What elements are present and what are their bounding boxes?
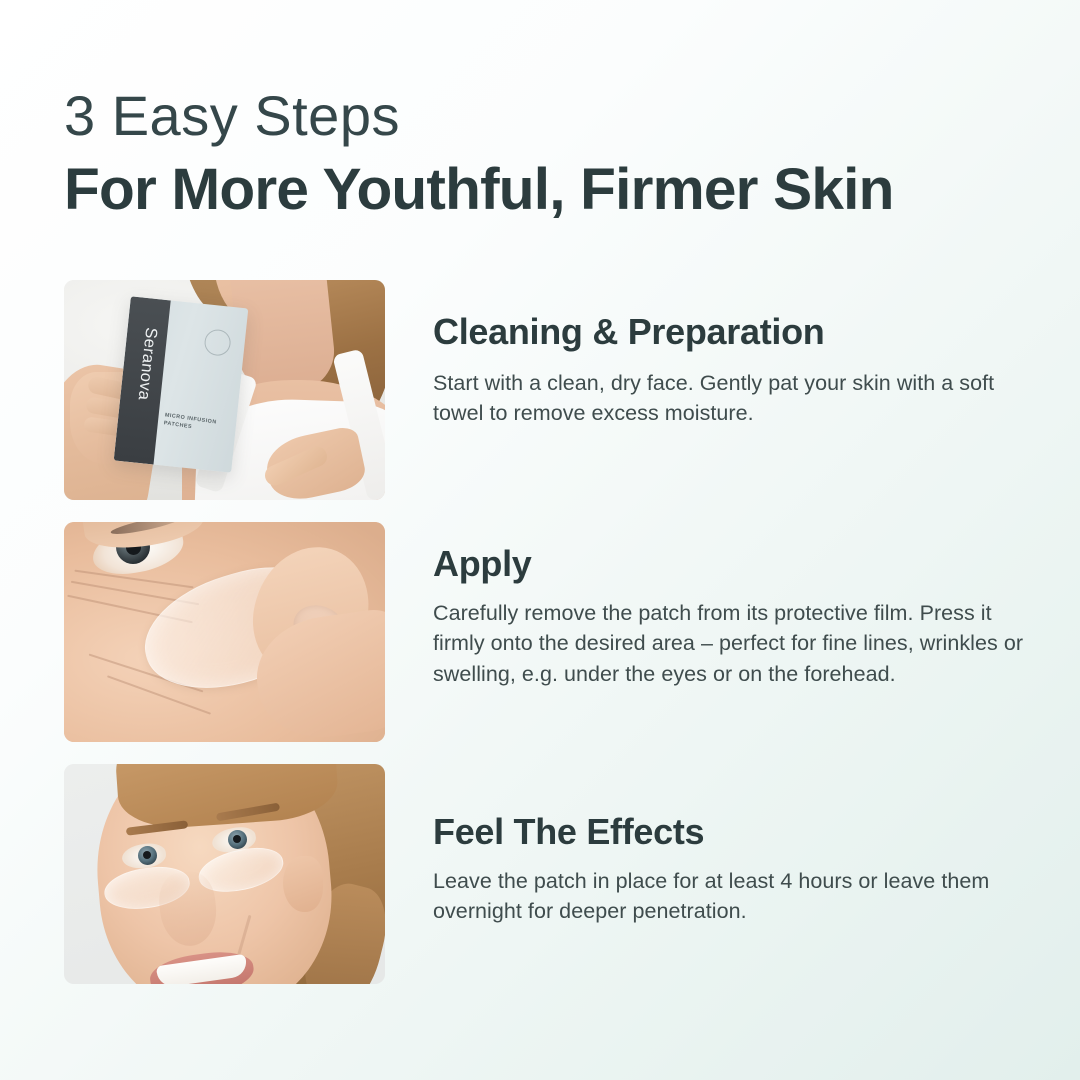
step-title: Feel The Effects: [433, 812, 1033, 852]
step-text-block: Feel The Effects Leave the patch in plac…: [433, 764, 1033, 927]
step-text-block: Apply Carefully remove the patch from it…: [433, 522, 1033, 689]
product-subtitle-label: MICRO INFUSION PATCHES: [163, 411, 231, 436]
step-item: Apply Carefully remove the patch from it…: [0, 522, 1080, 742]
step-image-cleaning-preparation: Seranova MICRO INFUSION PATCHES: [64, 280, 385, 500]
step-text-block: Cleaning & Preparation Start with a clea…: [433, 280, 1033, 429]
step-item: Seranova MICRO INFUSION PATCHES Cleaning…: [0, 280, 1080, 500]
step-title: Apply: [433, 544, 1033, 584]
step-item: Feel The Effects Leave the patch in plac…: [0, 764, 1080, 984]
page-heading: 3 Easy Steps For More Youthful, Firmer S…: [64, 88, 1034, 221]
heading-line-1: 3 Easy Steps: [64, 88, 1034, 144]
eye-pupil: [143, 851, 151, 859]
heading-line-2: For More Youthful, Firmer Skin: [64, 160, 1044, 221]
product-sachet: Seranova MICRO INFUSION PATCHES: [114, 296, 249, 472]
step-image-feel-the-effects: [64, 764, 385, 984]
sachet-seal-icon: [203, 328, 232, 357]
step-title: Cleaning & Preparation: [433, 312, 1033, 352]
step-description: Start with a clean, dry face. Gently pat…: [433, 368, 1033, 429]
step-image-apply: [64, 522, 385, 742]
steps-list: Seranova MICRO INFUSION PATCHES Cleaning…: [0, 280, 1080, 984]
eye-pupil: [233, 835, 241, 843]
model-ear: [283, 856, 323, 912]
step-description: Carefully remove the patch from its prot…: [433, 598, 1033, 690]
step-description: Leave the patch in place for at least 4 …: [433, 866, 1033, 927]
